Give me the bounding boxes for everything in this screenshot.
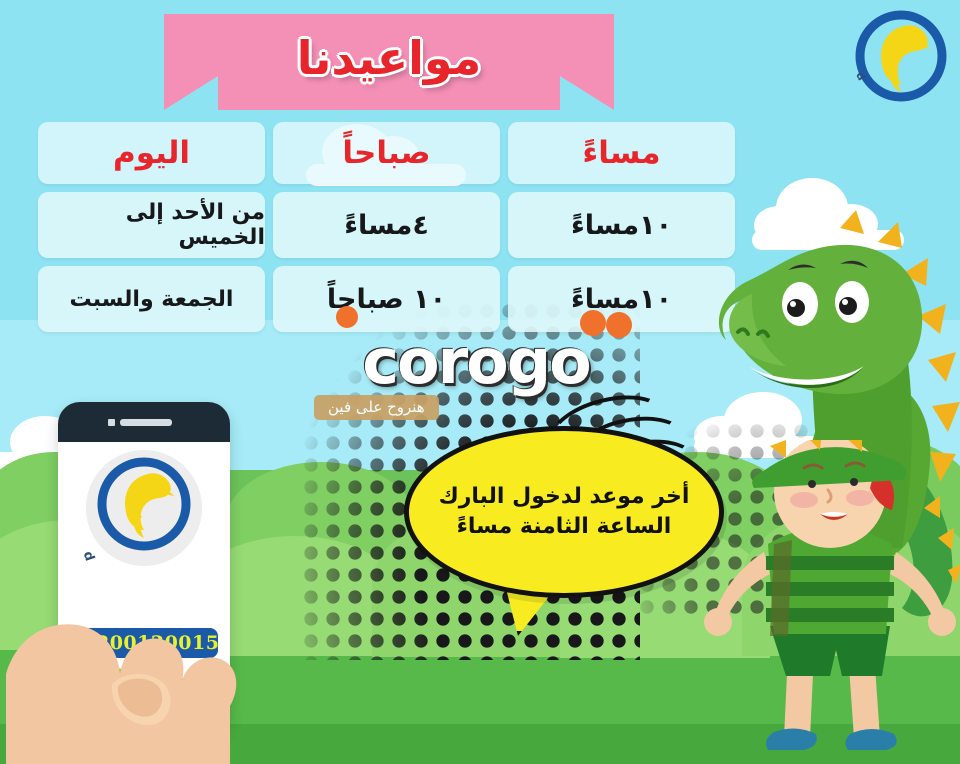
header-cell-morning: صباحاً xyxy=(273,122,500,184)
row-1-evening-value: ١٠مساءً xyxy=(571,284,672,315)
header-cell-evening: مساءً xyxy=(508,122,735,184)
table-header-row: اليوم صباحاً مساءً xyxy=(38,122,736,184)
watermark: corogo هنروح على فين xyxy=(306,333,646,391)
boy-character xyxy=(700,440,960,764)
poster-canvas: مواعيدنا اليوم صباحاً مساءً من الأحد إلى… xyxy=(0,0,960,764)
row-0-day-cell: من الأحد إلى الخميس xyxy=(38,192,265,258)
watermark-text: corogo xyxy=(306,333,646,391)
row-0-evening-cell: ١٠مساءً xyxy=(508,192,735,258)
watermark-tagline: هنروح على فين xyxy=(328,398,425,416)
header-day-label: اليوم xyxy=(113,135,190,171)
row-0-evening-value: ١٠مساءً xyxy=(571,210,672,241)
watermark-tagline-badge: هنروح على فين xyxy=(314,395,439,420)
phone-top-bezel xyxy=(58,402,230,442)
brand-logo: Dragon Island xyxy=(846,6,956,116)
phone-camera-icon xyxy=(108,419,115,426)
dragon-island-corner-logo-icon: Dragon Island xyxy=(846,6,956,116)
notice-line-1: أخر موعد لدخول البارك xyxy=(424,482,704,512)
watermark-dot-3 xyxy=(606,312,632,338)
header-cell-day: اليوم xyxy=(38,122,265,184)
phone-speaker-icon xyxy=(120,419,172,426)
banner-ribbon: مواعيدنا xyxy=(164,14,614,110)
watermark-dot-2 xyxy=(580,310,606,336)
entry-notice-bubble: أخر موعد لدخول البارك الساعة الثامنة مسا… xyxy=(404,426,724,598)
row-0-morning-value: ٤مساءً xyxy=(344,210,429,241)
row-1-day-cell: الجمعة والسبت xyxy=(38,266,265,332)
header-morning-label: صباحاً xyxy=(342,135,430,171)
watermark-dot-1 xyxy=(336,306,358,328)
row-1-day-value: الجمعة والسبت xyxy=(70,287,234,312)
row-1-morning-cell: ١٠ صباحاً xyxy=(273,266,500,332)
table-row: من الأحد إلى الخميس ٤مساءً ١٠مساءً xyxy=(38,192,736,258)
notice-line-2: الساعة الثامنة مساءً xyxy=(424,512,704,542)
hand-holding-phone xyxy=(6,534,306,764)
header-evening-label: مساءً xyxy=(582,135,660,171)
schedule-table: اليوم صباحاً مساءً من الأحد إلى الخميس ٤… xyxy=(38,122,736,340)
row-0-day-value: من الأحد إلى الخميس xyxy=(38,200,265,250)
row-0-morning-cell: ٤مساءً xyxy=(273,192,500,258)
page-title: مواعيدنا xyxy=(164,14,614,102)
